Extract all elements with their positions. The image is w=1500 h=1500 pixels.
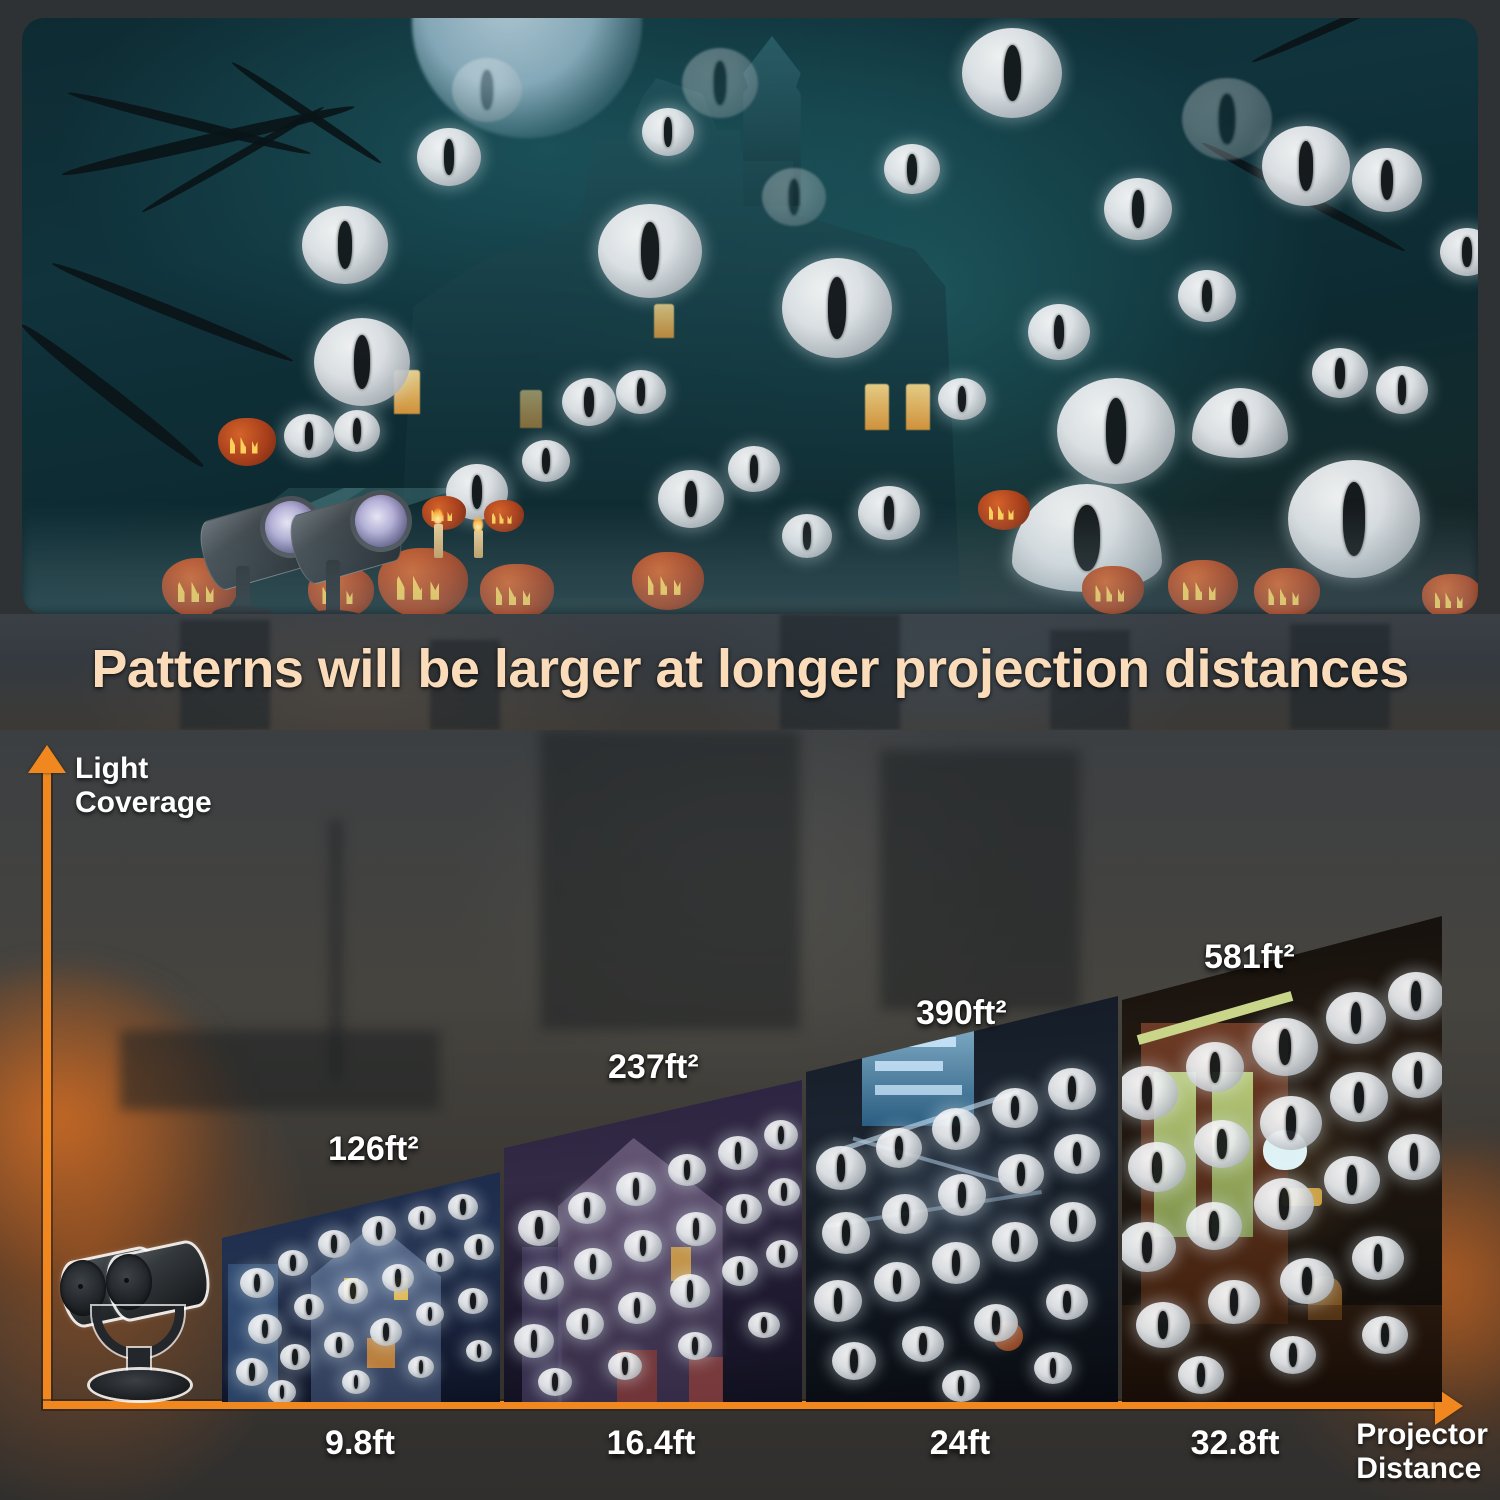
ground-fog [22,504,1478,614]
eyeball-pattern [240,1268,274,1298]
eyeball-pattern [1330,1072,1388,1122]
eyeball-pattern [598,204,702,298]
eyeball-pattern [608,1352,642,1380]
eyeball-pattern [342,1370,370,1394]
eyeball-pattern [318,1230,350,1258]
coverage-panel-3[interactable] [806,996,1118,1402]
coverage-panel-2[interactable] [504,1080,802,1402]
eyeball-pattern [764,1120,798,1150]
eyeball-pattern [362,1216,396,1246]
eyeball-pattern [1128,1142,1186,1192]
eyeball-pattern [992,1088,1038,1128]
eyeball-pattern [726,1194,762,1224]
eyeball-pattern [762,168,826,226]
eyeball-pattern [1392,1052,1442,1098]
eyeball-pattern [426,1248,454,1272]
eyeball-pattern [766,1240,798,1268]
eyeball-pattern [514,1324,554,1358]
eyeball-pattern [1054,1134,1100,1174]
eyeball-pattern [942,1370,980,1402]
eyeball-pattern [1352,148,1422,212]
eyeball-pattern [1280,1258,1334,1304]
eyeball-pattern [1048,1068,1096,1110]
lit-window [520,390,542,428]
eyeball-pattern [992,1222,1038,1262]
eyeball-pattern [902,1326,944,1362]
eyeball-pattern [1136,1302,1190,1348]
bare-branch [22,319,208,472]
eyeball-pattern [1376,366,1428,414]
eyeball-pattern [1388,972,1442,1020]
eyeball-pattern [884,144,940,194]
eyeball-pattern [568,1192,606,1224]
moon-icon [412,18,642,138]
eyeball-pattern [236,1358,268,1386]
eyeball-pattern [642,108,694,156]
distance-tick-label-2: 16.4ft [545,1424,757,1463]
eyeball-pattern [334,410,380,452]
eyeball-pattern [1388,1134,1440,1180]
eyeball-pattern [324,1332,354,1358]
eyeball-pattern [408,1206,436,1230]
eyeball-pattern [618,1292,656,1324]
eyeball-pattern [678,1332,712,1360]
eyeball-pattern [1182,78,1272,160]
eyeball-pattern [1192,388,1288,458]
eyeball-pattern [1252,1018,1318,1076]
eyeball-pattern [938,1174,986,1216]
eyeball-pattern [464,1234,494,1260]
eyeball-pattern [1262,126,1350,206]
eyeball-pattern [1352,1236,1404,1280]
eyeball-pattern [1270,1336,1316,1374]
eyeball-pattern [816,1146,866,1190]
eyeball-pattern [284,414,334,458]
eyeball-pattern [1194,1120,1250,1168]
eyeball-pattern [616,370,666,414]
eyeball-pattern [458,1288,488,1314]
eyeball-pattern [1028,304,1090,360]
eyeball-pattern [822,1212,870,1254]
coverage-value-label-4: 581ft² [1204,938,1295,977]
lit-window [906,384,930,430]
eyeball-pattern [616,1172,656,1206]
bare-branch [50,258,295,366]
eyeball-pattern [1046,1284,1088,1320]
eyeball-pattern [782,258,892,358]
eyeball-pattern [417,128,481,186]
eyeball-pattern [1260,1096,1322,1150]
eyeball-pattern [932,1108,980,1150]
eyeball-pattern [1186,1042,1244,1092]
eyeball-pattern [748,1312,780,1338]
eyeball-pattern [314,318,410,406]
eyeball-pattern [294,1294,324,1320]
eyeball-pattern [280,1344,310,1370]
eyeball-pattern [938,378,986,420]
eyeball-pattern [974,1304,1018,1342]
eyeball-pattern [566,1308,604,1340]
eyeball-pattern [882,1194,928,1234]
eyeball-pattern [1254,1178,1314,1230]
eyeball-pattern [452,58,522,122]
eyeball-pattern [382,1264,414,1292]
eyeball-pattern [1034,1352,1072,1384]
eyeball-pattern [1326,992,1386,1044]
eyeball-pattern [832,1342,876,1380]
eyeball-pattern [722,1256,758,1286]
eyeball-pattern [1057,378,1175,484]
eyeball-pattern [670,1274,710,1308]
coverage-value-label-1: 126ft² [328,1130,419,1169]
eyeball-pattern [1362,1316,1408,1354]
lit-window [654,304,674,338]
eyeball-pattern [518,1210,560,1246]
lit-window [865,384,889,430]
eyeball-pattern [1050,1202,1096,1242]
eyeball-pattern [248,1314,282,1344]
eyeball-pattern [466,1340,492,1362]
eyeball-pattern [1104,178,1172,240]
coverage-panel-group [0,730,1500,1410]
eyeball-pattern [1178,270,1236,322]
coverage-value-label-2: 237ft² [608,1048,699,1087]
eyeball-pattern [998,1154,1044,1194]
eyeball-pattern [1178,1356,1224,1394]
eyeball-pattern [538,1368,572,1396]
eyeball-pattern [574,1248,612,1280]
eyeball-pattern [624,1230,662,1262]
distance-tick-label-1: 9.8ft [260,1424,460,1463]
eyeball-pattern [962,28,1062,118]
eyeball-pattern [814,1280,862,1322]
eyeball-pattern [874,1262,920,1302]
eyeball-pattern [408,1356,434,1378]
distance-tick-label-3: 24ft [855,1424,1065,1463]
eyeball-pattern [1312,348,1368,398]
eyeball-pattern [876,1128,922,1168]
eyeball-pattern [1208,1280,1260,1324]
coverage-panel-4[interactable] [1122,916,1442,1402]
product-infographic-page: Patterns will be larger at longer projec… [0,0,1500,1500]
coverage-value-label-3: 390ft² [916,994,1007,1033]
eyeball-pattern [1324,1156,1380,1204]
eyeball-pattern [718,1136,758,1170]
page-title: Patterns will be larger at longer projec… [0,638,1500,700]
eyeball-pattern [268,1380,296,1402]
eyeball-pattern [1440,228,1478,276]
eyeball-pattern [728,446,780,492]
eyeball-pattern [416,1302,444,1326]
eyeball-pattern [338,1278,368,1304]
eyeball-pattern [932,1242,980,1284]
eyeball-pattern [522,440,570,482]
eyeball-pattern [676,1212,716,1246]
eyeball-pattern [524,1266,564,1300]
hero-scene-image [22,18,1478,614]
eyeball-pattern [302,206,388,284]
eyeball-pattern [1186,1202,1242,1250]
eyeball-pattern [370,1318,402,1346]
eyeball-pattern [448,1194,478,1220]
eyeball-pattern [682,48,758,118]
bare-branch [1250,18,1427,66]
eyeball-pattern [668,1154,706,1186]
jack-o-lantern [218,418,276,466]
eyeball-pattern [768,1178,800,1206]
distance-tick-label-4: 32.8ft [1090,1424,1380,1463]
eyeball-pattern [278,1250,308,1276]
coverage-panel-1[interactable] [222,1172,500,1402]
eyeball-pattern [562,378,616,426]
